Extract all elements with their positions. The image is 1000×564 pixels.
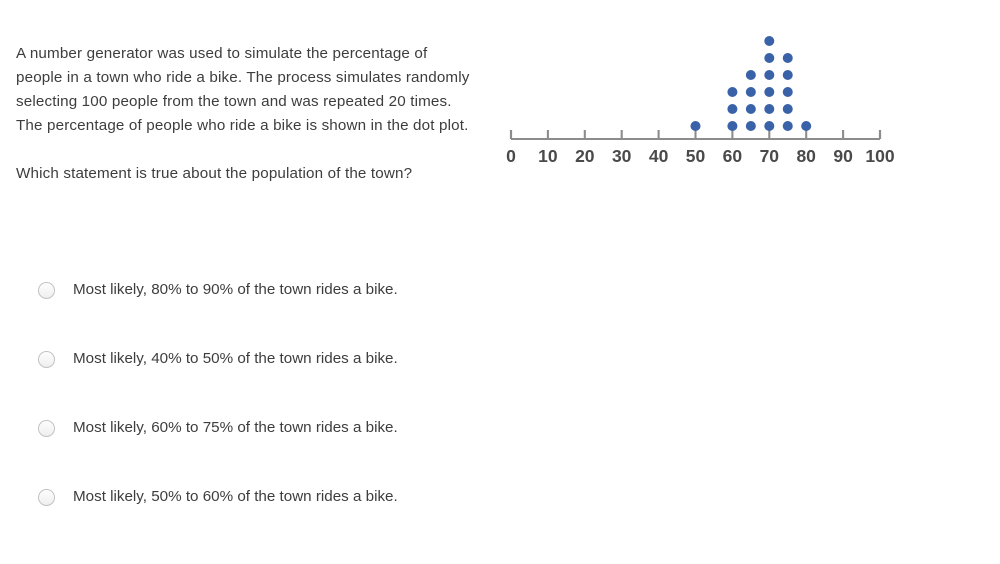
axis-tick-label: 40 xyxy=(649,146,669,166)
answer-choices: Most likely, 80% to 90% of the town ride… xyxy=(16,262,486,538)
data-dot xyxy=(746,70,756,80)
axis-tick-label: 70 xyxy=(760,146,780,166)
data-dot xyxy=(783,87,793,97)
radio-button-choice-c[interactable] xyxy=(38,420,55,437)
data-dot xyxy=(746,87,756,97)
radio-button-choice-a[interactable] xyxy=(38,282,55,299)
data-dot xyxy=(727,87,737,97)
axis-tick-label: 20 xyxy=(575,146,595,166)
choice-row[interactable]: Most likely, 80% to 90% of the town ride… xyxy=(16,262,486,318)
axis-tick-label: 90 xyxy=(833,146,853,166)
data-dot xyxy=(783,121,793,131)
axis-tick-label: 60 xyxy=(723,146,743,166)
dot-stack-group xyxy=(691,36,812,131)
axis-tick-label: 100 xyxy=(865,146,894,166)
choice-label-a[interactable]: Most likely, 80% to 90% of the town ride… xyxy=(73,278,398,302)
axis-tick-label: 50 xyxy=(686,146,706,166)
choice-label-c[interactable]: Most likely, 60% to 75% of the town ride… xyxy=(73,416,398,440)
data-dot xyxy=(764,70,774,80)
choice-row[interactable]: Most likely, 40% to 50% of the town ride… xyxy=(16,331,486,387)
choice-label-b[interactable]: Most likely, 40% to 50% of the town ride… xyxy=(73,347,398,371)
data-dot xyxy=(764,121,774,131)
axis-tick-label-group: 0102030405060708090100 xyxy=(506,146,895,166)
data-dot xyxy=(727,121,737,131)
question-panel: A number generator was used to simulate … xyxy=(16,42,476,186)
axis-tick-label: 0 xyxy=(506,146,516,166)
data-dot xyxy=(746,121,756,131)
dot-plot-axis: 0102030405060708090100 xyxy=(506,130,895,166)
axis-tick-label: 30 xyxy=(612,146,632,166)
data-dot xyxy=(691,121,701,131)
prompt-question: Which statement is true about the popula… xyxy=(16,162,476,186)
axis-tick-group xyxy=(511,130,880,139)
radio-button-choice-b[interactable] xyxy=(38,351,55,368)
choice-label-d[interactable]: Most likely, 50% to 60% of the town ride… xyxy=(73,485,398,509)
data-dot xyxy=(746,104,756,114)
prompt-body: A number generator was used to simulate … xyxy=(16,42,476,138)
data-dot xyxy=(783,70,793,80)
data-dot xyxy=(764,87,774,97)
data-dot xyxy=(783,104,793,114)
data-dot xyxy=(764,53,774,63)
data-dot xyxy=(783,53,793,63)
radio-button-choice-d[interactable] xyxy=(38,489,55,506)
axis-tick-label: 80 xyxy=(796,146,816,166)
data-dot xyxy=(727,104,737,114)
dot-plot-figure: 0102030405060708090100 xyxy=(500,20,900,170)
data-dot xyxy=(764,36,774,46)
axis-tick-label: 10 xyxy=(538,146,558,166)
dot-plot-svg: 0102030405060708090100 xyxy=(500,20,900,170)
choice-row[interactable]: Most likely, 60% to 75% of the town ride… xyxy=(16,400,486,456)
data-dot xyxy=(764,104,774,114)
choice-row[interactable]: Most likely, 50% to 60% of the town ride… xyxy=(16,469,486,525)
data-dot xyxy=(801,121,811,131)
